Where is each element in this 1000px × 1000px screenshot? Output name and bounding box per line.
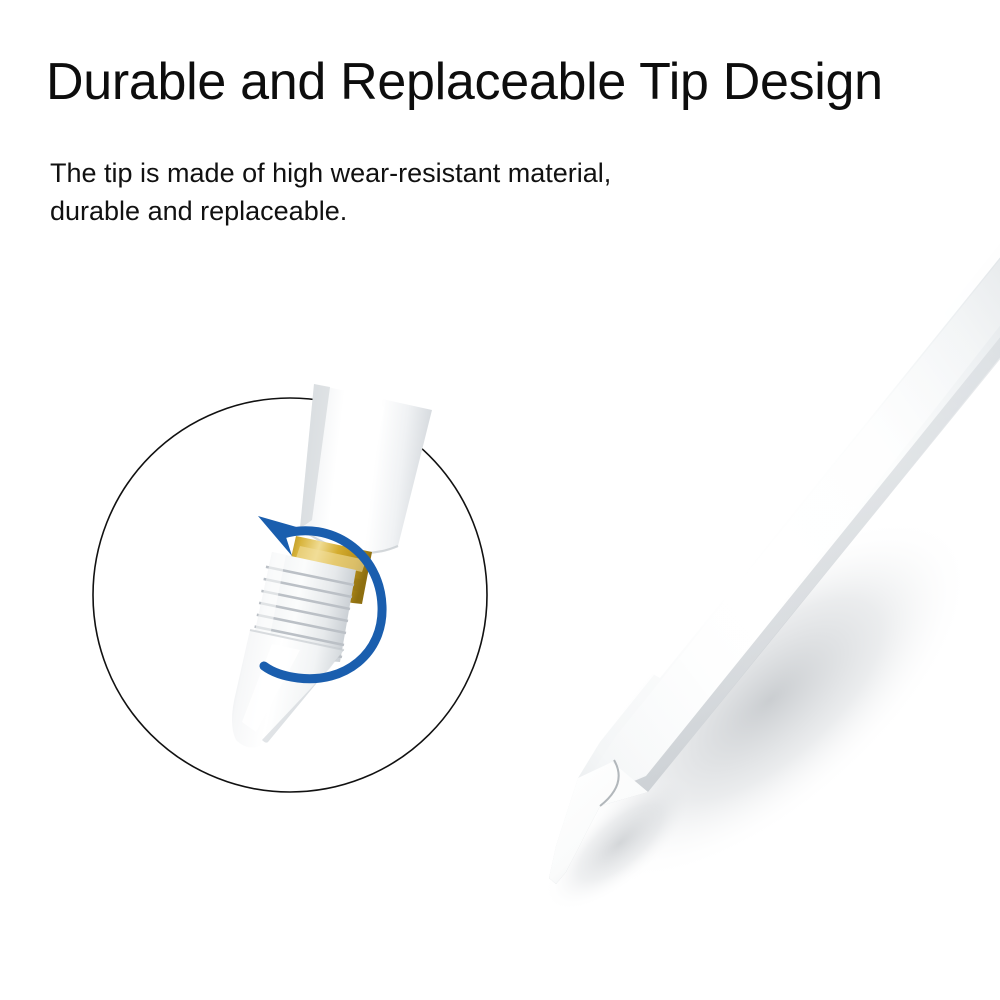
stylus-tip-seam	[600, 760, 619, 806]
stylus-highlight	[642, 226, 1000, 678]
product-feature-image: Durable and Replaceable Tip Design The t…	[0, 0, 1000, 1000]
brass-contact-ring	[286, 536, 372, 604]
unscrew-rotation-arrow	[258, 516, 382, 679]
stylus-flat-facet	[586, 252, 1000, 792]
threaded-collar	[250, 552, 356, 669]
text-block: Durable and Replaceable Tip Design The t…	[46, 52, 966, 230]
inset-circle-outline	[93, 398, 487, 792]
page-title: Durable and Replaceable Tip Design	[46, 52, 966, 112]
thread-ridges	[250, 566, 354, 669]
stylus-under-shadow	[549, 330, 1000, 884]
page-subtitle: The tip is made of high wear-resistant m…	[46, 112, 690, 230]
stylus-pen	[549, 226, 1000, 884]
page-subtitle-line-2: durable and replaceable.	[50, 196, 347, 226]
stylus-tip	[549, 762, 648, 884]
inset-pen-barrel	[300, 384, 432, 553]
replaceable-cone-tip	[232, 630, 344, 748]
circular-detail-inset	[93, 384, 487, 792]
stylus-shadow	[510, 454, 1000, 945]
page-subtitle-line-1: The tip is made of high wear-resistant m…	[50, 158, 611, 188]
